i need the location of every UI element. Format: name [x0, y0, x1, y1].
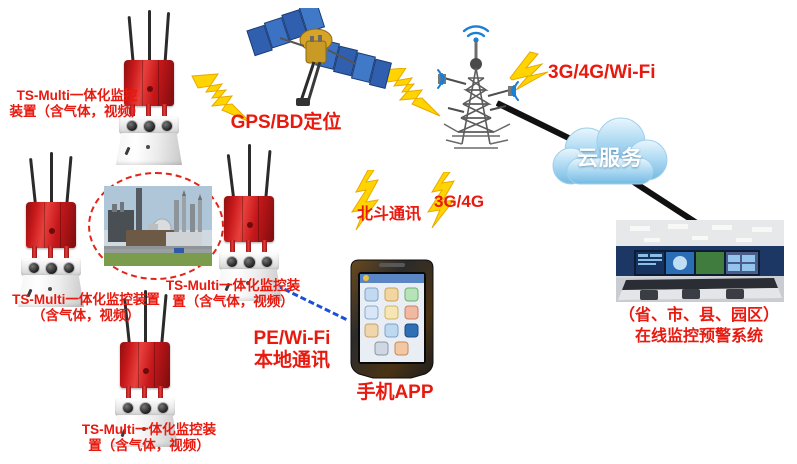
- label-device-bottom: TS-Multi一体化监控装 置（含气体，视频）: [75, 422, 223, 454]
- industrial-plant-photo: [88, 172, 224, 280]
- ts-multi-monitor-device: [12, 150, 98, 310]
- control-center-image: [616, 220, 784, 302]
- label-device-left: TS-Multi一体化监控装置 （含气体，视频）: [0, 292, 172, 324]
- communication-tower: [424, 12, 538, 154]
- label-local-comm: PE/Wi-Fi 本地通讯: [238, 328, 346, 373]
- lightning-icon: [348, 170, 384, 237]
- label-device-mid: TS-Multi一体化监控装 置（含气体，视频）: [163, 278, 303, 310]
- handheld-terminal: [349, 258, 435, 380]
- satellite: [244, 8, 394, 113]
- label-device-top: TS-Multi一体化监控 装置（含气体，视频）: [2, 88, 152, 120]
- label-gps: GPS/BD定位: [226, 112, 346, 134]
- diagram-canvas: 云服务: [0, 0, 797, 464]
- label-3g4g: 3G/4G: [434, 192, 504, 212]
- cloud-label: 云服务: [568, 142, 652, 172]
- label-phone-app: 手机APP: [352, 382, 438, 404]
- label-beidou: 北斗通讯: [346, 206, 432, 225]
- label-control-center: （省、市、县、园区） 在线监控预警系统: [600, 306, 797, 348]
- label-3g4g-wifi: 3G/4G/Wi-Fi: [548, 62, 688, 84]
